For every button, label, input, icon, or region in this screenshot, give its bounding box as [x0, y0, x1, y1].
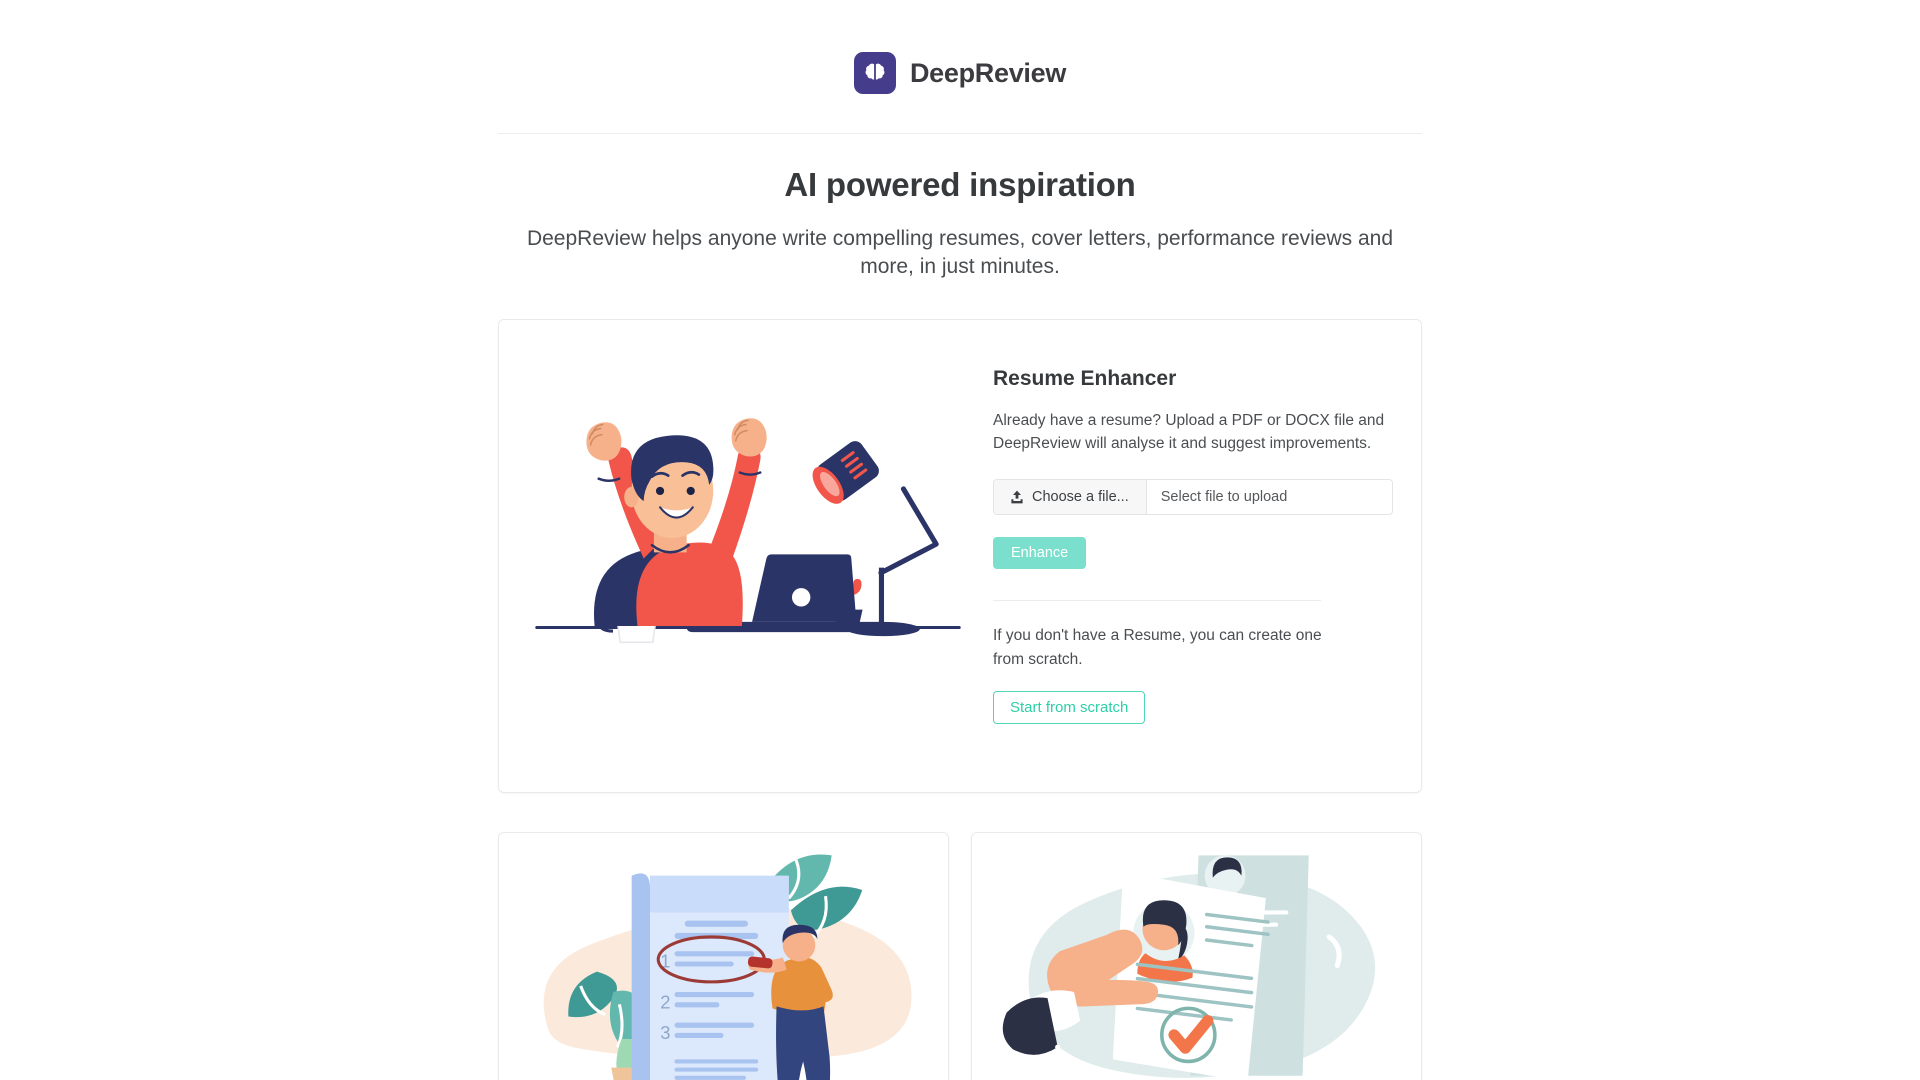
bottom-cards-row: 1 2 3 [498, 832, 1422, 1080]
page-title: AI powered inspiration [498, 164, 1422, 205]
approved-resume-card[interactable] [971, 832, 1422, 1080]
brand-header: DeepReview [0, 0, 1920, 94]
card-description: Already have a resume? Upload a PDF or D… [993, 409, 1393, 456]
start-from-scratch-button[interactable]: Start from scratch [993, 691, 1145, 724]
resume-enhancer-body: Resume Enhancer Already have a resume? U… [993, 320, 1423, 764]
app-page: DeepReview AI powered inspiration DeepRe… [0, 0, 1920, 1080]
file-name-display[interactable]: Select file to upload [1147, 480, 1392, 514]
person-reviewing-checklist-illustration: 1 2 3 [499, 839, 948, 1080]
card-divider [993, 600, 1321, 601]
card-title: Resume Enhancer [993, 366, 1393, 391]
celebrating-person-at-laptop-illustration [499, 320, 993, 695]
choose-file-button[interactable]: Choose a file... [994, 480, 1147, 514]
scratch-note: If you don't have a Resume, you can crea… [993, 624, 1323, 671]
choose-file-label: Choose a file... [1032, 489, 1129, 505]
resume-enhancer-card: Resume Enhancer Already have a resume? U… [498, 319, 1422, 793]
page-subtitle: DeepReview helps anyone write compelling… [498, 225, 1422, 280]
svg-text:2: 2 [660, 991, 670, 1012]
hero-section: AI powered inspiration DeepReview helps … [498, 134, 1422, 281]
checklist-review-card[interactable]: 1 2 3 [498, 832, 949, 1080]
brain-icon[interactable] [854, 52, 896, 94]
svg-text:3: 3 [660, 1022, 670, 1043]
upload-icon [1010, 490, 1024, 504]
brand-name: DeepReview [910, 60, 1066, 87]
hand-holding-approved-resume-illustration [972, 839, 1421, 1080]
file-upload-group[interactable]: Choose a file... Select file to upload [993, 479, 1393, 515]
enhance-button[interactable]: Enhance [993, 537, 1086, 569]
